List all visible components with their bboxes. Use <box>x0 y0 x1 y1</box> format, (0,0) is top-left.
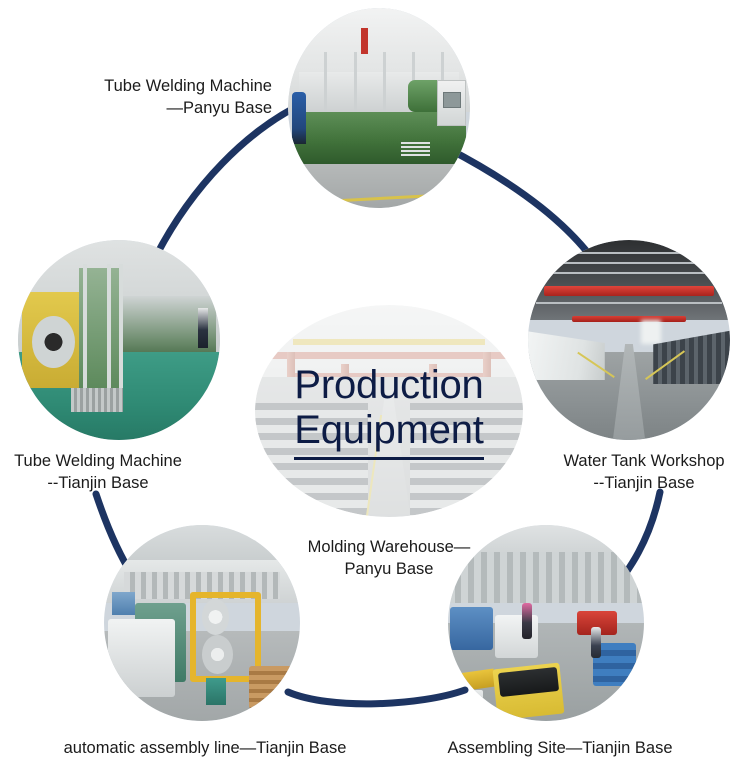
caption-molding-warehouse: Molding Warehouse— Panyu Base <box>282 536 496 580</box>
caption-water-tank-workshop: Water Tank Workshop --Tianjin Base <box>546 450 742 494</box>
title-underline <box>294 457 484 460</box>
node-center-production-equipment: Production Equipment <box>255 305 523 517</box>
caption-automatic-assembly-line: automatic assembly line—Tianjin Base <box>52 737 358 759</box>
tube-welding-machine-panyu-photo <box>288 8 470 208</box>
water-tank-workshop-photo <box>528 240 730 440</box>
caption-tube-welding-tianjin: Tube Welding Machine --Tianjin Base <box>4 450 192 494</box>
tube-welding-machine-tianjin-photo <box>18 240 220 440</box>
center-title-block: Production Equipment <box>255 305 523 517</box>
node-water-tank-workshop[interactable] <box>528 240 730 440</box>
center-title-line-2: Equipment <box>294 408 483 453</box>
caption-tube-welding-panyu: Tube Welding Machine —Panyu Base <box>100 75 272 119</box>
node-tube-welding-tianjin[interactable] <box>18 240 220 440</box>
center-title-line-1: Production <box>294 363 483 408</box>
arc-bottom-right-to-bottom-left <box>288 690 465 704</box>
production-equipment-infographic: Tube Welding Machine —Panyu Base Tube We… <box>0 0 750 780</box>
node-tube-welding-panyu[interactable] <box>288 8 470 208</box>
caption-assembling-site: Assembling Site—Tianjin Base <box>428 737 692 759</box>
node-automatic-assembly-line[interactable] <box>104 525 300 721</box>
automatic-assembly-line-photo <box>104 525 300 721</box>
